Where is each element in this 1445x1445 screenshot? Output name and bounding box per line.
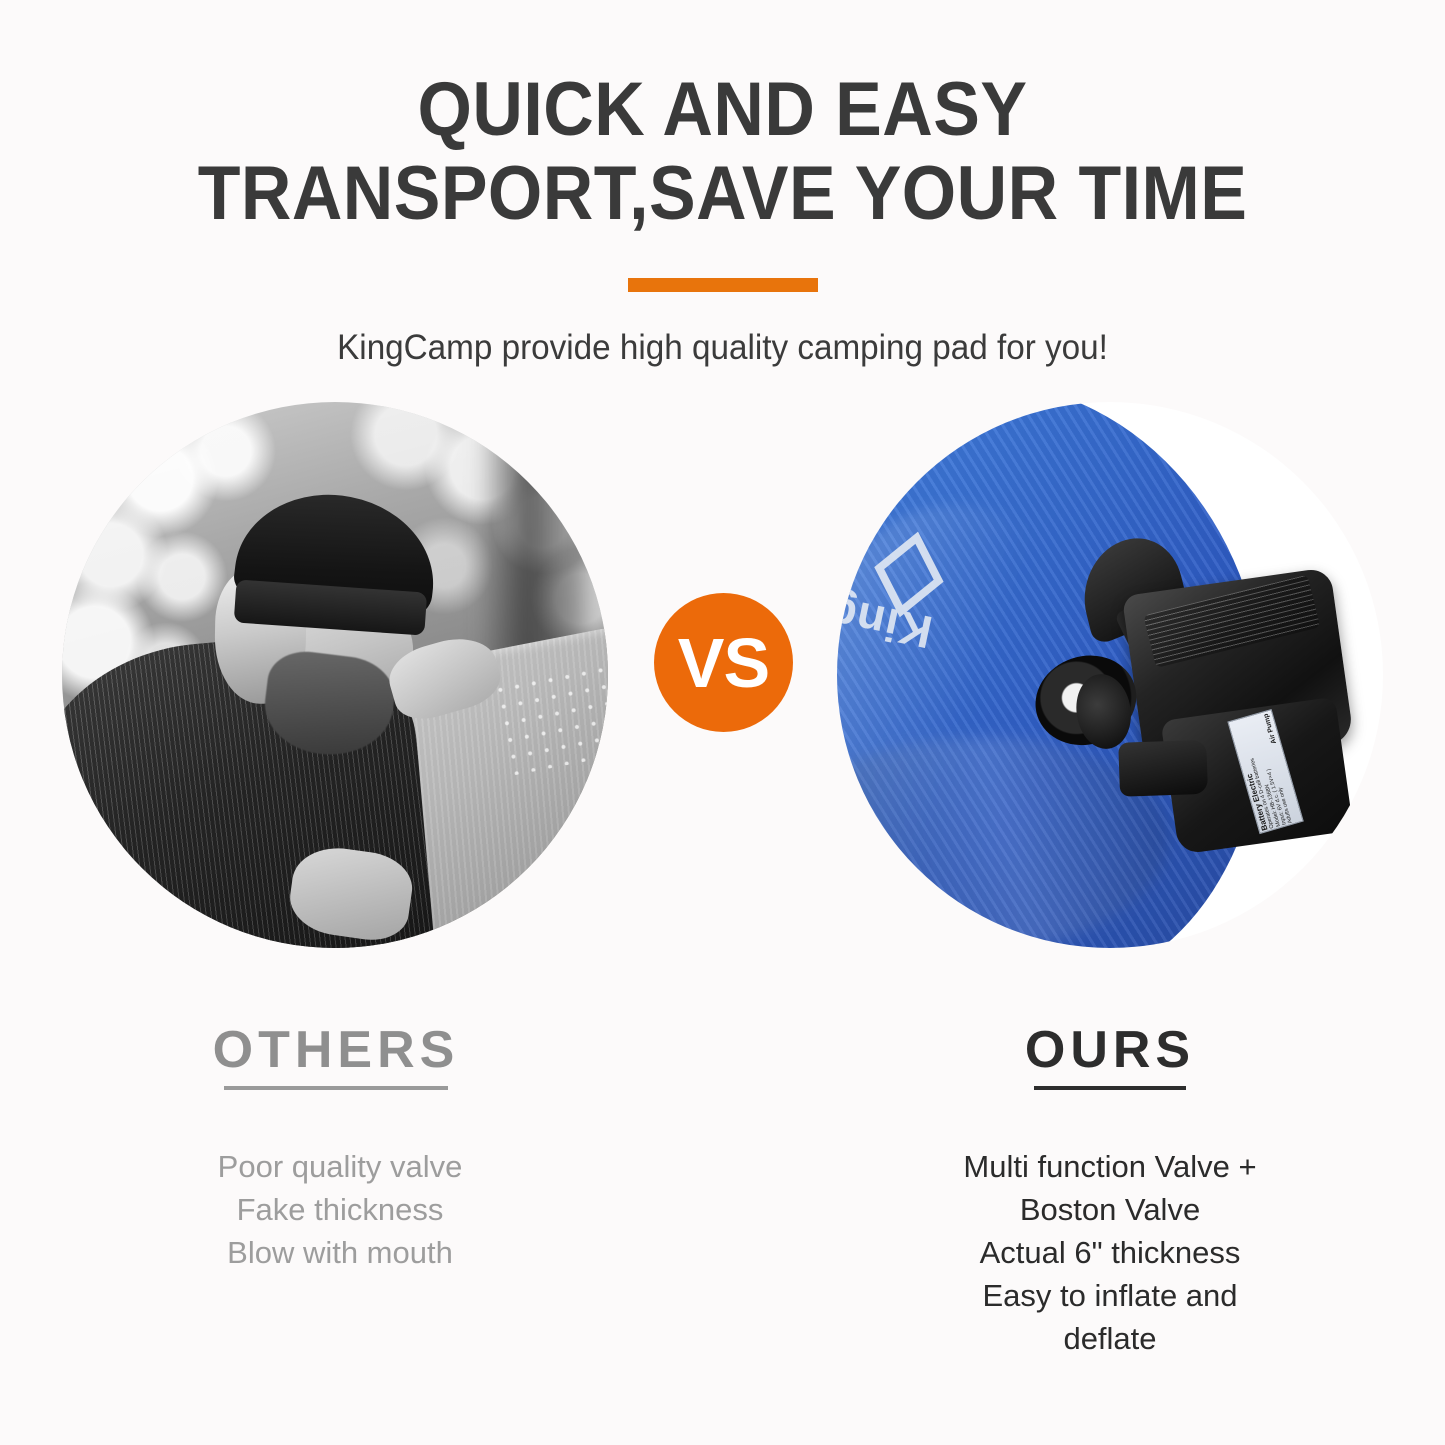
others-photo-circle bbox=[62, 402, 608, 948]
infographic-page: QUICK AND EASY TRANSPORT,SAVE YOUR TIME … bbox=[0, 0, 1445, 1445]
ours-label: OURS bbox=[930, 1022, 1290, 1090]
others-label-text: OTHERS bbox=[213, 1021, 460, 1079]
page-title: QUICK AND EASY TRANSPORT,SAVE YOUR TIME bbox=[58, 68, 1387, 236]
others-label: OTHERS bbox=[156, 1022, 516, 1090]
electric-air-pump: Battery Electric Operates on 4 D-cell ba… bbox=[1033, 500, 1383, 882]
product-photo: King Battery Electric Operates on 4 D-ce… bbox=[837, 402, 1383, 948]
orange-divider-bar bbox=[628, 278, 818, 292]
bw-camper-photo bbox=[62, 402, 608, 948]
others-label-underline bbox=[224, 1086, 448, 1090]
ours-label-underline bbox=[1034, 1086, 1186, 1090]
page-subtitle: KingCamp provide high quality camping pa… bbox=[36, 327, 1409, 369]
pump-outlet-port bbox=[1119, 740, 1209, 797]
ours-feature-list: Multi function Valve + Boston Valve Actu… bbox=[920, 1145, 1300, 1360]
vs-badge: VS bbox=[654, 593, 793, 732]
ours-label-text: OURS bbox=[1025, 1021, 1195, 1079]
ours-photo-circle: King Battery Electric Operates on 4 D-ce… bbox=[837, 402, 1383, 948]
others-feature-list: Poor quality valve Fake thickness Blow w… bbox=[130, 1145, 550, 1274]
